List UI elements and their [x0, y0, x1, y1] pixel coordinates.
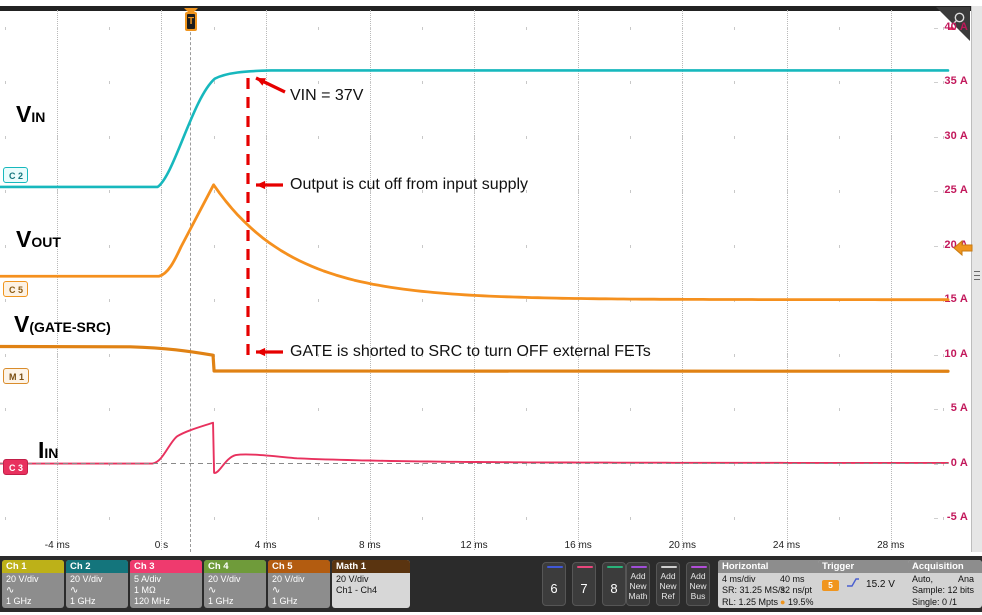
channel-badge-line: 1 GHz — [272, 596, 330, 607]
acquisition-panel[interactable]: Acquisition Auto,Ana Sample: 12 bits Sin… — [908, 560, 982, 608]
acquisition-mode: Auto, — [912, 574, 933, 584]
channel-badge-line: Ch1 - Ch4 — [336, 585, 410, 596]
channel-button-color-cap — [577, 566, 593, 568]
annotation-overlay — [0, 0, 982, 552]
channel-badge-line: 20 V/div — [336, 574, 410, 585]
add-button-color-cap — [661, 566, 677, 568]
rising-edge-icon — [846, 577, 860, 588]
channel-badge-line: 20 V/div — [272, 574, 330, 585]
channel-badge-line: 1 GHz — [6, 596, 64, 607]
horizontal-position: 19.5% — [788, 597, 814, 607]
channel-badge-line: 20 V/div — [6, 574, 64, 585]
channel-badge-line: 1 GHz — [70, 596, 128, 607]
channel-badge-title: Ch 4 — [204, 560, 266, 573]
channel-badge-body: 20 V/div∿1 GHz — [204, 573, 266, 608]
channel-badge-line: ∿ — [70, 585, 128, 596]
x-axis-label: 8 ms — [359, 540, 381, 551]
channel-badge-line: ∿ — [272, 585, 330, 596]
channel-badge-ch-4[interactable]: Ch 420 V/div∿1 GHz — [204, 560, 266, 608]
channel-badge-line: 20 V/div — [208, 574, 266, 585]
horizontal-scale: 4 ms/div — [722, 574, 756, 584]
x-axis-label: 0 s — [155, 540, 168, 551]
channel-button-label: 6 — [550, 581, 557, 596]
x-axis-label: 28 ms — [877, 540, 904, 551]
x-axis-label: 12 ms — [460, 540, 487, 551]
channel-badge-line: 5 A/div — [134, 574, 202, 585]
x-axis-label: 20 ms — [669, 540, 696, 551]
channel-badge-title: Ch 3 — [130, 560, 202, 573]
x-axis-label: 4 ms — [255, 540, 277, 551]
add-button-color-cap — [631, 566, 647, 568]
channel-badge-body: 20 V/div∿1 GHz — [66, 573, 128, 608]
add-new-bus-button[interactable]: AddNewBus — [686, 562, 710, 606]
add-button-label: New — [657, 581, 679, 591]
waveform-plot-area[interactable]: T 40 A35 A30 A25 A20 A15 A10 A5 A0 A-5 A… — [0, 0, 982, 552]
add-button-label: Math — [627, 591, 649, 601]
channel-button-8[interactable]: 8 — [602, 562, 626, 606]
acquisition-single: Single: 0 /1 — [912, 597, 982, 608]
channel-badge-title: Ch 5 — [268, 560, 330, 573]
channel-badge-ch-5[interactable]: Ch 520 V/div∿1 GHz — [268, 560, 330, 608]
channel-badge-line: 20 V/div — [70, 574, 128, 585]
channel-button-label: 7 — [580, 581, 587, 596]
add-button-label: New — [627, 581, 649, 591]
add-button-color-cap — [691, 566, 707, 568]
annotation-gate-src: GATE is shorted to SRC to turn OFF exter… — [290, 343, 651, 361]
x-axis-label: 24 ms — [773, 540, 800, 551]
add-button-label: Add — [687, 571, 709, 581]
bottom-toolbar[interactable]: Ch 120 V/div∿1 GHzCh 220 V/div∿1 GHzCh 3… — [0, 556, 982, 612]
x-axis-label: 16 ms — [565, 540, 592, 551]
channel-button-6[interactable]: 6 — [542, 562, 566, 606]
channel-badge-ch-2[interactable]: Ch 220 V/div∿1 GHz — [66, 560, 128, 608]
horizontal-record-length: RL: 1.25 Mpts — [722, 597, 778, 607]
channel-badge-body: 20 V/div∿1 GHz — [2, 573, 64, 608]
horizontal-sample-rate: SR: 31.25 MS/s — [722, 585, 785, 595]
time-axis: -4 ms0 s4 ms8 ms12 ms16 ms20 ms24 ms28 m… — [0, 540, 972, 552]
channel-badge-line: 120 MHz — [134, 596, 202, 607]
trigger-level-value: 15.2 V — [866, 579, 895, 590]
channel-badge-line: ∿ — [6, 585, 64, 596]
channel-badge-ch-3[interactable]: Ch 35 A/div1 MΩ120 MHz — [130, 560, 202, 608]
add-button-label: Bus — [687, 591, 709, 601]
channel-button-color-cap — [547, 566, 563, 568]
acquisition-sample: Sample: 12 bits — [912, 585, 982, 596]
channel-badge-title: Ch 1 — [2, 560, 64, 573]
channel-button-label: 8 — [610, 581, 617, 596]
channel-badge-math-1[interactable]: Math 120 V/divCh1 - Ch4 — [332, 560, 410, 608]
add-button-label: New — [687, 581, 709, 591]
channel-badge-line: ∿ — [208, 585, 266, 596]
channel-badge-line: 1 GHz — [208, 596, 266, 607]
horizontal-resolution: 32 ns/pt — [780, 585, 812, 596]
annotation-arrow-gate-src-head — [256, 348, 265, 356]
channel-badge-line: 1 MΩ — [134, 585, 202, 596]
horizontal-position-icon: ● — [780, 597, 785, 607]
annotation-arrow-output-cutoff-head — [256, 181, 265, 189]
annotation-vin: VIN = 37V — [290, 87, 363, 105]
oscilloscope-screen: T 40 A35 A30 A25 A20 A15 A10 A5 A0 A-5 A… — [0, 0, 982, 612]
add-button-label: Add — [657, 571, 679, 581]
channel-badge-body: 5 A/div1 MΩ120 MHz — [130, 573, 202, 608]
add-button-label: Ref — [657, 591, 679, 601]
channel-badge-body: 20 V/div∿1 GHz — [268, 573, 330, 608]
channel-button-7[interactable]: 7 — [572, 562, 596, 606]
channel-badge-ch-1[interactable]: Ch 120 V/div∿1 GHz — [2, 560, 64, 608]
x-axis-label: -4 ms — [45, 540, 70, 551]
add-new-math-button[interactable]: AddNewMath — [626, 562, 650, 606]
channel-badge-body: 20 V/divCh1 - Ch4 — [332, 573, 410, 596]
trigger-source-badge[interactable]: 5 — [822, 580, 839, 591]
annotation-output-cutoff: Output is cut off from input supply — [290, 176, 528, 194]
channel-badge-title: Math 1 — [332, 560, 410, 573]
channel-button-color-cap — [607, 566, 623, 568]
acquisition-mode2: Ana — [958, 574, 974, 585]
add-button-label: Add — [627, 571, 649, 581]
add-new-ref-button[interactable]: AddNewRef — [656, 562, 680, 606]
horizontal-span: 40 ms — [780, 574, 805, 585]
channel-badge-title: Ch 2 — [66, 560, 128, 573]
acquisition-panel-title: Acquisition — [908, 560, 982, 573]
